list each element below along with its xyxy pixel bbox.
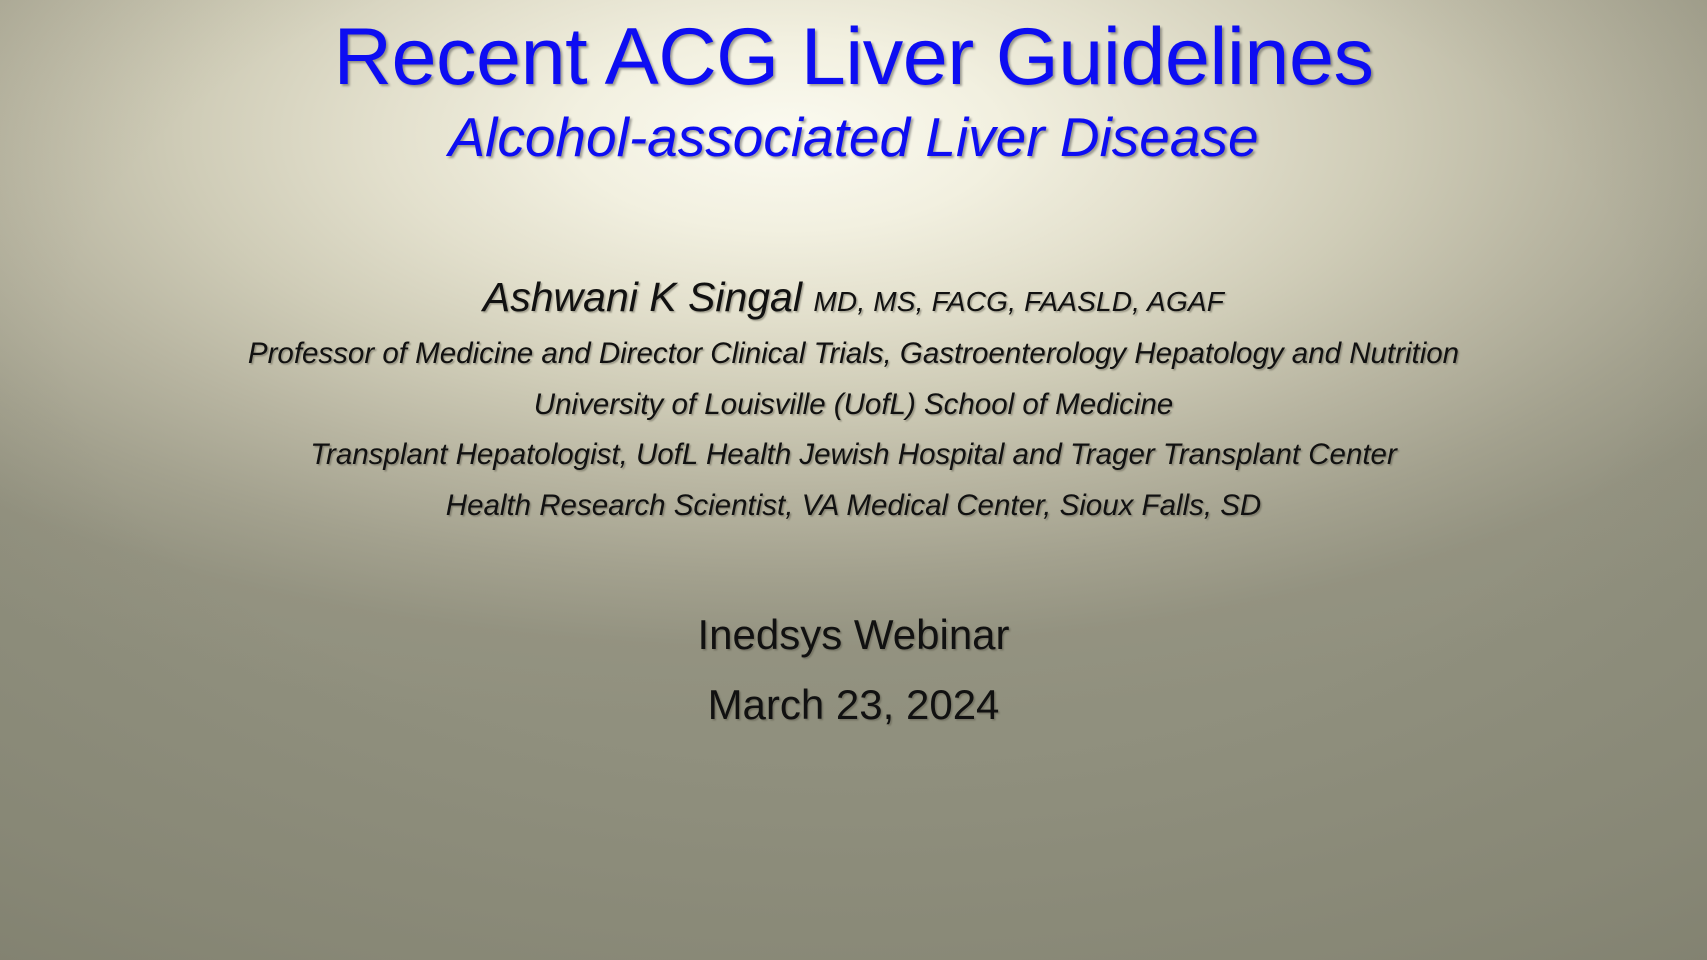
slide-subtitle: Alcohol-associated Liver Disease — [0, 107, 1707, 169]
author-credentials: MD, MS, FACG, FAASLD, AGAF — [813, 286, 1224, 317]
affiliation-line: Transplant Hepatologist, UofL Health Jew… — [0, 440, 1707, 470]
slide-title: Recent ACG Liver Guidelines — [0, 14, 1707, 101]
slide-content: Recent ACG Liver Guidelines Alcohol-asso… — [0, 0, 1707, 960]
author-line: Ashwani K Singal MD, MS, FACG, FAASLD, A… — [0, 277, 1707, 318]
presentation-slide: Recent ACG Liver Guidelines Alcohol-asso… — [0, 0, 1707, 960]
event-block: Inedsys Webinar March 23, 2024 — [0, 614, 1707, 726]
author-block: Ashwani K Singal MD, MS, FACG, FAASLD, A… — [0, 277, 1707, 520]
affiliation-line: Health Research Scientist, VA Medical Ce… — [0, 491, 1707, 521]
event-name: Inedsys Webinar — [0, 614, 1707, 656]
title-block: Recent ACG Liver Guidelines Alcohol-asso… — [0, 14, 1707, 169]
author-name: Ashwani K Singal — [483, 274, 802, 320]
affiliation-line: University of Louisville (UofL) School o… — [0, 390, 1707, 420]
affiliation-line: Professor of Medicine and Director Clini… — [0, 339, 1707, 369]
event-date: March 23, 2024 — [0, 684, 1707, 726]
